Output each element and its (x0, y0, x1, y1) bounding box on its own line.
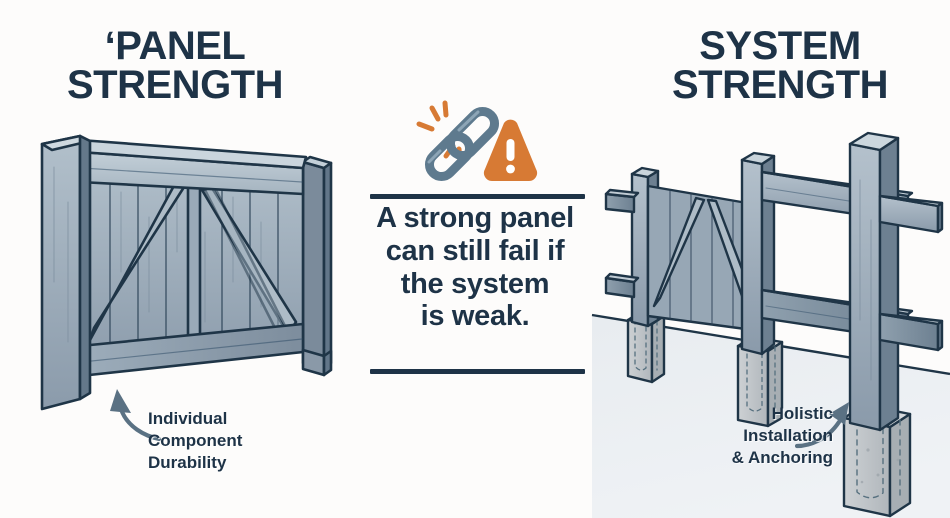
panel-post-right-foot (303, 350, 331, 375)
right-caption-line-3: & Anchoring (688, 447, 833, 469)
center-message-line-1: A strong panel (355, 202, 595, 235)
center-message-line-2: can still fail if (355, 235, 595, 268)
infographic-canvas: ‘PANEL STRENGTH SYSTEM STRENGTH (0, 0, 950, 518)
isolated-fence-panel-illustration (18, 122, 348, 412)
left-caption: Individual Component Durability (148, 408, 308, 473)
center-message-line-3: the system (355, 268, 595, 301)
center-icon-row (355, 100, 595, 188)
divider-rule-bottom (370, 369, 585, 374)
left-panel-title: ‘PANEL STRENGTH (10, 27, 340, 105)
panel-post-right (303, 157, 331, 369)
chain-link-lower-icon (429, 136, 470, 176)
fence-post-3 (850, 133, 898, 430)
rail-stub-lower-left (606, 274, 638, 297)
divider-rule-top (370, 194, 585, 199)
center-message-line-4: is weak. (355, 300, 595, 333)
left-caption-line-1: Individual (148, 408, 308, 430)
panel-post-left (42, 136, 90, 409)
braced-panel-section (648, 186, 753, 330)
center-message-text: A strong panel can still fail if the sys… (355, 202, 595, 333)
left-caption-line-2: Component (148, 430, 308, 452)
rail-stub-upper-left (606, 190, 638, 212)
right-panel-title: SYSTEM STRENGTH (620, 27, 940, 105)
broken-chain-warning-icon-group (410, 99, 540, 189)
left-caption-line-3: Durability (148, 452, 308, 474)
right-caption: Holistic Installation & Anchoring (688, 403, 833, 468)
right-caption-line-1: Holistic (688, 403, 833, 425)
center-message-block: A strong panel can still fail if the sys… (355, 100, 595, 390)
right-caption-line-2: Installation (688, 425, 833, 447)
